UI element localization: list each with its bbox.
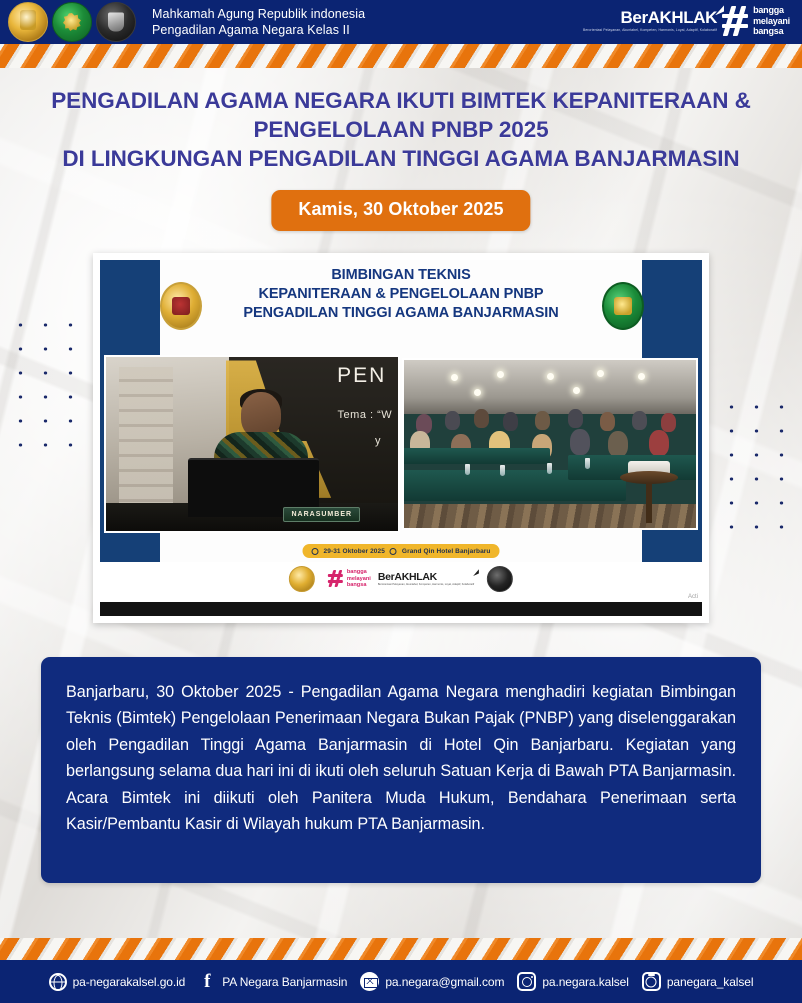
header-logo-group [8,2,136,42]
flyer-footer-logo-group: bangga melayani bangsa BerAKHLAK Berorie… [289,566,513,592]
flyer-footer-wordmark: BerAKHLAK Berorientasi Pelayanan, Akunta… [378,571,474,587]
facebook-icon: f [198,973,216,991]
berakhlak-main-text: BerAKHLAK [583,8,717,28]
globe-icon [49,973,67,991]
flyer-caption-date: 29-31 Oktober 2025 [324,548,385,555]
flyer-footer-dark-seal-icon [487,566,513,592]
footer-facebook-label: PA Negara Banjarmasin [222,975,347,989]
flyer-seal-green-icon [602,282,644,330]
berakhlak-wordmark: BerAKHLAK Berorientasi Pelayanan, Akunta… [583,8,717,33]
footer-website-label: pa-negarakalsel.go.id [73,975,186,989]
footer-item-facebook[interactable]: f PA Negara Banjarmasin [198,973,347,991]
event-photo: BIMBINGAN TEKNIS KEPANITERAAN & PENGELOL… [100,260,702,616]
tagline-line-3: bangsa [753,26,790,37]
page-header: Mahkamah Agung Republik indonesia Pengad… [0,0,802,44]
title-line-1: PENGADILAN AGAMA NEGARA IKUTI BIMTEK KEP… [0,86,802,115]
photo-watermark: Acti [688,594,698,600]
footer-item-instagram[interactable]: pa.negara.kalsel [517,972,628,991]
flyer-footer-tagline: bangga melayani bangsa [347,569,371,590]
flyer-heading-line-1: BIMBINGAN TEKNIS [100,266,702,285]
footer-item-camera[interactable]: panegara_kalsel [642,972,754,991]
award-seal-gold-icon [8,2,48,42]
article-body-panel: Banjarbaru, 30 Oktober 2025 - Pengadilan… [41,657,761,883]
speaker-photo: PEN Tema : “W y NARASUMBER [104,355,400,533]
bangga-melayani-bangsa-tagline: bangga melayani bangsa [753,5,790,37]
speaker-nameplate: NARASUMBER [283,507,360,522]
hashtag-icon [328,570,343,587]
backdrop-text-tema-2: y [375,435,381,447]
camera-icon [642,972,661,991]
berakhlak-logo: BerAKHLAK Berorientasi Pelayanan, Akunta… [583,5,790,37]
flyer-seal-gold-icon [160,282,202,330]
flyer-caption-venue: Grand Qin Hotel Banjarbaru [402,548,491,555]
footer-email-label: pa.negara@gmail.com [385,975,504,989]
flyer-berakhlak-main-text: BerAKHLAK [378,571,474,583]
footer-camera-label: panegara_kalsel [667,975,754,989]
date-badge: Kamis, 30 Oktober 2025 [271,190,530,231]
page-title: PENGADILAN AGAMA NEGARA IKUTI BIMTEK KEP… [0,86,802,173]
title-line-3: DI LINGKUNGAN PENGADILAN TINGGI AGAMA BA… [0,144,802,173]
flyer-footer: bangga melayani bangsa BerAKHLAK Berorie… [100,562,702,616]
page-footer: pa-negarakalsel.go.id f PA Negara Banjar… [0,960,802,1003]
flyer-tagline-line-3: bangsa [347,582,371,589]
tagline-line-2: melayani [753,16,790,27]
dot-grid-right-decoration [694,395,794,540]
berakhlak-subtitle: Berorientasi Pelayanan, Akuntabel, Kompe… [583,28,717,33]
footer-item-website[interactable]: pa-negarakalsel.go.id [49,973,186,991]
header-line-1: Mahkamah Agung Republik indonesia [152,6,365,22]
header-institution-text: Mahkamah Agung Republik indonesia Pengad… [152,6,365,38]
pengadilan-dark-seal-icon [96,2,136,42]
tagline-line-1: bangga [753,5,790,16]
poster-canvas: Mahkamah Agung Republik indonesia Pengad… [0,0,802,1003]
hashtag-icon [722,6,748,36]
bottom-stripe-divider [0,938,802,962]
audience-photo [402,358,698,530]
flyer-footer-gold-seal-icon [289,566,315,592]
email-icon [360,972,379,991]
flyer-caption: 29-31 Oktober 2025 Grand Qin Hotel Banja… [303,544,500,558]
flyer-berakhlak-subtitle: Berorientasi Pelayanan, Akuntabel, Kompe… [378,583,474,587]
title-line-2: PENGELOLAAN PNBP 2025 [0,115,802,144]
backdrop-text-pen: PEN [337,364,386,388]
footer-item-email[interactable]: pa.negara@gmail.com [360,972,504,991]
location-icon [390,548,397,555]
mahkamah-agung-green-seal-icon [52,2,92,42]
article-paragraph: Banjarbaru, 30 Oktober 2025 - Pengadilan… [66,679,736,837]
top-stripe-divider [0,44,802,68]
flyer-tagline-line-1: bangga [347,569,371,576]
calendar-icon [312,548,319,555]
footer-instagram-label: pa.negara.kalsel [542,975,628,989]
instagram-icon [517,972,536,991]
flyer-tagline-line-2: melayani [347,576,371,583]
header-line-2: Pengadilan Agama Negara Kelas II [152,22,365,38]
flyer-footer-berakhlak-logo: bangga melayani bangsa BerAKHLAK Berorie… [328,569,474,590]
event-photo-card: BIMBINGAN TEKNIS KEPANITERAAN & PENGELOL… [93,253,709,623]
backdrop-text-tema: Tema : “W [338,409,393,421]
